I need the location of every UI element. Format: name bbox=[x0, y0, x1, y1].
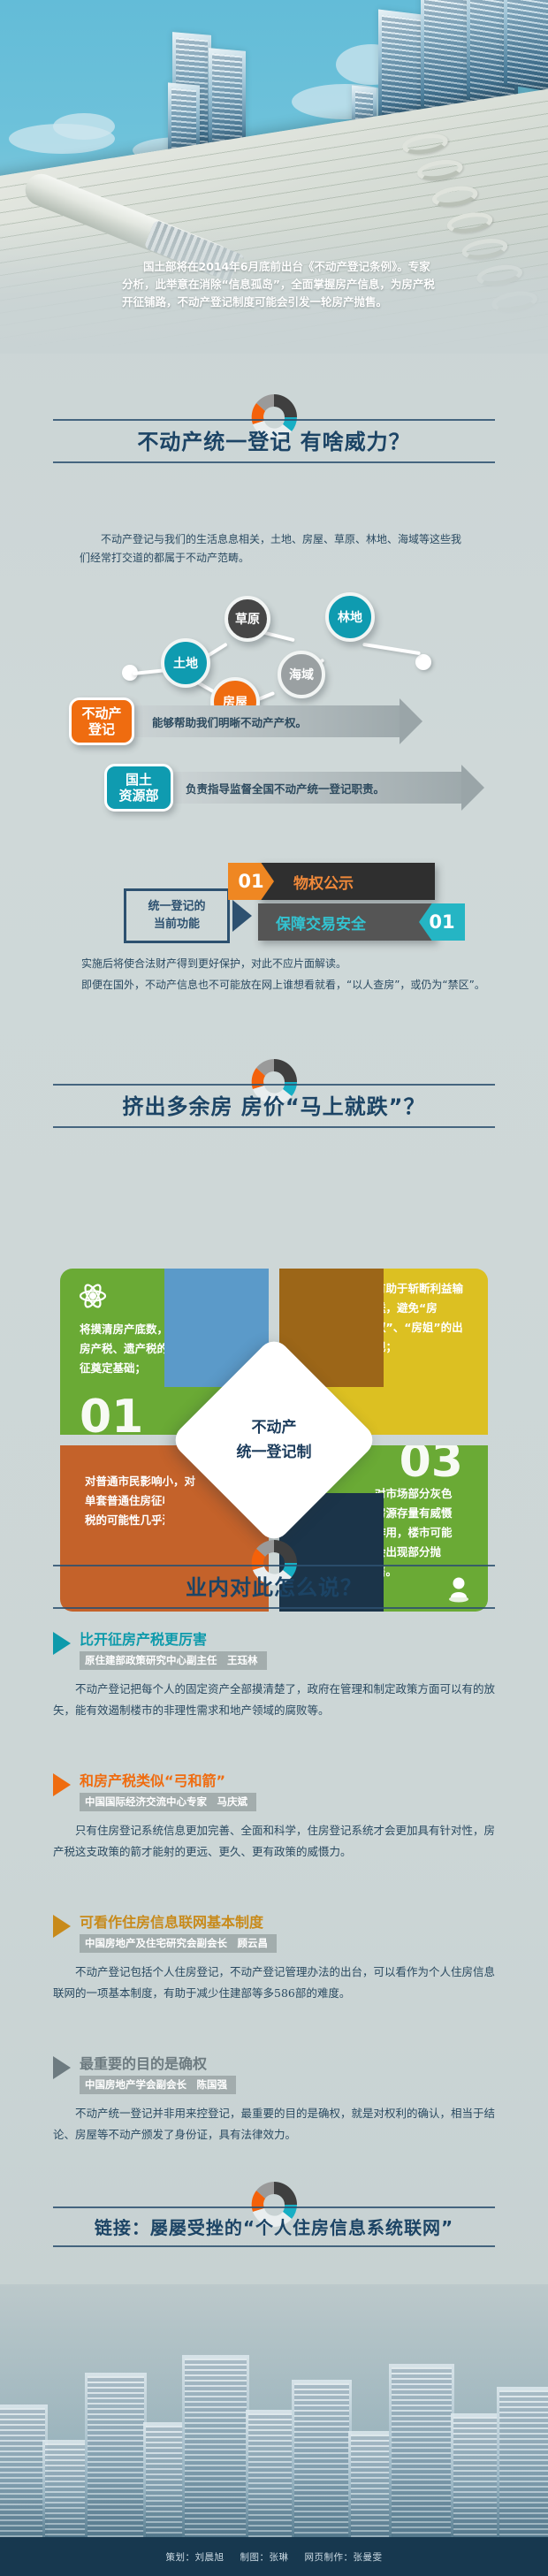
credit-web: 网页制作：张曼雯 bbox=[305, 2550, 383, 2564]
heading-rule-bottom bbox=[53, 461, 495, 463]
expert-triangle-icon bbox=[53, 1773, 71, 1796]
heading-rule-top bbox=[53, 2206, 495, 2208]
expert-byline: 中国国际经济交流中心专家 马庆斌 bbox=[80, 1793, 256, 1811]
expert-triangle-icon bbox=[53, 1915, 71, 1938]
atom-icon bbox=[78, 1281, 108, 1311]
footer-building bbox=[42, 2440, 88, 2537]
current-function-box: 统一登记的 当前功能 bbox=[124, 888, 230, 943]
function-label: 保障交易安全 bbox=[276, 911, 366, 934]
function-pointer-arrow bbox=[232, 900, 252, 932]
arrow-bar-ministry: 国土 资源部 负责指导监督全国不动产统一登记职责。 bbox=[124, 765, 486, 811]
expert-card-2: 和房产税类似“弓和箭” 中国国际经济交流中心专家 马庆斌 只有住房登记系统信息更… bbox=[53, 1772, 495, 1863]
arrow-bar-text: 能够帮助我们明晰不动产产权。 bbox=[152, 713, 307, 730]
footer-building bbox=[143, 2422, 186, 2537]
arrow-bar-registration: 不动产 登记 能够帮助我们明晰不动产产权。 bbox=[88, 698, 424, 744]
expert-title: 和房产税类似“弓和箭” bbox=[80, 1772, 495, 1791]
section-4-heading: 链接：屡屡受挫的“个人住房信息系统联网” bbox=[0, 2176, 548, 2247]
heading-rule-bottom bbox=[53, 1126, 495, 1128]
function-label: 物权公示 bbox=[293, 871, 354, 893]
quadrant-01-number: 01 bbox=[80, 1394, 143, 1435]
arrow-bar-text: 负责指导监督全国不动产统一登记职责。 bbox=[186, 780, 384, 796]
building-shape bbox=[504, 0, 548, 93]
footer-building bbox=[0, 2405, 48, 2537]
section-4-title: 链接：屡屡受挫的“个人住房信息系统联网” bbox=[53, 2208, 495, 2245]
node-label: 土地 bbox=[173, 654, 198, 672]
function-box-line-1: 统一登记的 bbox=[148, 898, 205, 916]
expert-card-3: 可看作住房信息联网基本制度 中国房地产及住宅研究会副会长 顾云昌 不动产登记包括… bbox=[53, 1913, 495, 2004]
footer-building bbox=[182, 2355, 249, 2537]
section-1-heading: 不动产统一登记 有啥威力？ bbox=[0, 389, 548, 463]
heading-rule-bottom bbox=[53, 1607, 495, 1609]
expert-byline: 中国房地产学会副会长 陈国强 bbox=[80, 2076, 236, 2094]
expert-text: 不动产登记包括个人住房登记，不动产登记管理办法的出台，可以看作为个人住房信息联网… bbox=[53, 1962, 495, 2004]
footer-building bbox=[292, 2380, 352, 2537]
footer-building bbox=[85, 2373, 147, 2537]
expert-title: 比开征房产税更厉害 bbox=[80, 1630, 495, 1650]
expert-card-1: 比开征房产税更厉害 原住建部政策研究中心副主任 王珏林 不动产登记把每个人的固定… bbox=[53, 1630, 495, 1721]
heading-rule-top bbox=[53, 1084, 495, 1086]
expert-text: 不动产登记把每个人的固定资产全部摸清楚了，政府在管理和制定政策方面可以有的放矢，… bbox=[53, 1679, 495, 1721]
pinwheel-hub: 不动产 统一登记制 bbox=[200, 1366, 348, 1514]
expert-text: 只有住房登记系统信息更加完善、全面和科学，住房登记系统才会更加具有针对性，房产税… bbox=[53, 1820, 495, 1863]
node-forest[interactable]: 林地 bbox=[325, 592, 375, 642]
pill-line-2: 登记 bbox=[88, 721, 115, 737]
expert-triangle-icon bbox=[53, 1632, 71, 1655]
pill-line-1: 国土 bbox=[126, 772, 152, 788]
section-3-title: 业内对此怎么说？ bbox=[53, 1566, 495, 1607]
heading-rule-top bbox=[53, 1565, 495, 1566]
footer-building bbox=[497, 2387, 548, 2537]
network-endpoint-right bbox=[415, 654, 431, 670]
node-land[interactable]: 土地 bbox=[161, 638, 210, 688]
arrow-head bbox=[400, 698, 422, 744]
hub-label: 不动产 统一登记制 bbox=[200, 1366, 348, 1514]
expert-card-4: 最重要的目的是确权 中国房地产学会副会长 陈国强 不动产统一登记并非用来控登记，… bbox=[53, 2054, 495, 2145]
hub-line-2: 统一登记制 bbox=[237, 1440, 312, 1465]
credits-bar: 策划：刘晨旭 制图：张琳 网页制作：张曼雯 bbox=[0, 2537, 548, 2576]
expert-title: 最重要的目的是确权 bbox=[80, 2054, 495, 2074]
expert-text: 不动产统一登记并非用来控登记，最重要的目的是确权，就是对权利的确认，相当于结论、… bbox=[53, 2103, 495, 2145]
credit-designer: 制图：张琳 bbox=[240, 2550, 289, 2564]
section-1-paragraph: 不动产登记与我们的生活息息相关，土地、房屋、草原、林地、海域等这些我们经常打交道… bbox=[80, 530, 468, 568]
quadrant-02-text: 有助于斩断利益输送，避免“房叔”、“房姐”的出现； bbox=[375, 1279, 468, 1357]
function-row-transaction-safety: 保障交易安全 01 bbox=[258, 903, 435, 941]
footer-cityscape bbox=[0, 2284, 548, 2576]
intro-paragraph: 国土部将在2014年6月底前出台《不动产登记条例》。专家分析，此举意在消除“信息… bbox=[122, 258, 440, 311]
pill-line-2: 资源部 bbox=[118, 788, 158, 804]
section-2-title: 挤出多余房 房价“马上就跌”？ bbox=[53, 1086, 495, 1126]
expert-title: 可看作住房信息联网基本制度 bbox=[80, 1913, 495, 1932]
expert-byline: 原住建部政策研究中心副主任 王珏林 bbox=[80, 1651, 267, 1670]
node-label: 草原 bbox=[235, 610, 260, 628]
node-label: 林地 bbox=[338, 608, 362, 626]
cloud-icon bbox=[53, 113, 115, 140]
infographic-page: 国土部将在2014年6月底前出台《不动产登记条例》。专家分析，此举意在消除“信息… bbox=[0, 0, 548, 2576]
heading-rule-top bbox=[53, 419, 495, 421]
quadrant-03-number: 03 bbox=[400, 1445, 463, 1484]
pill-real-estate-registration[interactable]: 不动产 登记 bbox=[69, 697, 134, 745]
section-2-heading: 挤出多余房 房价“马上就跌”？ bbox=[0, 1054, 548, 1128]
pill-ministry-of-land-resources[interactable]: 国土 资源部 bbox=[104, 764, 173, 812]
expert-byline: 中国房地产及住宅研究会副会长 顾云昌 bbox=[80, 1934, 277, 1953]
function-number-badge: 01 bbox=[419, 903, 465, 941]
section-3-heading: 业内对此怎么说？ bbox=[0, 1535, 548, 1609]
footer-building bbox=[451, 2413, 500, 2537]
arrow-head bbox=[461, 765, 484, 811]
node-sea[interactable]: 海域 bbox=[278, 651, 325, 698]
function-number-badge: 01 bbox=[228, 863, 274, 900]
node-grassland[interactable]: 草原 bbox=[225, 596, 270, 642]
node-label: 海域 bbox=[289, 666, 314, 683]
credit-planner: 策划：刘晨旭 bbox=[166, 2550, 225, 2564]
function-box-line-2: 当前功能 bbox=[154, 916, 200, 934]
function-row-property-disclosure: 01 物权公示 bbox=[258, 863, 435, 900]
heading-rule-bottom bbox=[53, 2245, 495, 2247]
section-1-note-1: 实施后将使合法财产得到更好保护，对此不应片面解读。 bbox=[60, 955, 488, 973]
pill-line-1: 不动产 bbox=[81, 705, 121, 721]
section-1-note-2: 即便在国外，不动产信息也不可能放在网上谁想看就看，“以人查房”，或仍为“禁区”。 bbox=[60, 976, 488, 995]
footer-building bbox=[246, 2410, 295, 2537]
section-1-title: 不动产统一登记 有啥威力？ bbox=[53, 421, 495, 461]
network-link bbox=[362, 643, 421, 655]
hub-line-1: 不动产 bbox=[252, 1415, 297, 1440]
footer-building bbox=[348, 2431, 392, 2537]
footer-building bbox=[389, 2364, 454, 2537]
expert-triangle-icon bbox=[53, 2056, 71, 2079]
